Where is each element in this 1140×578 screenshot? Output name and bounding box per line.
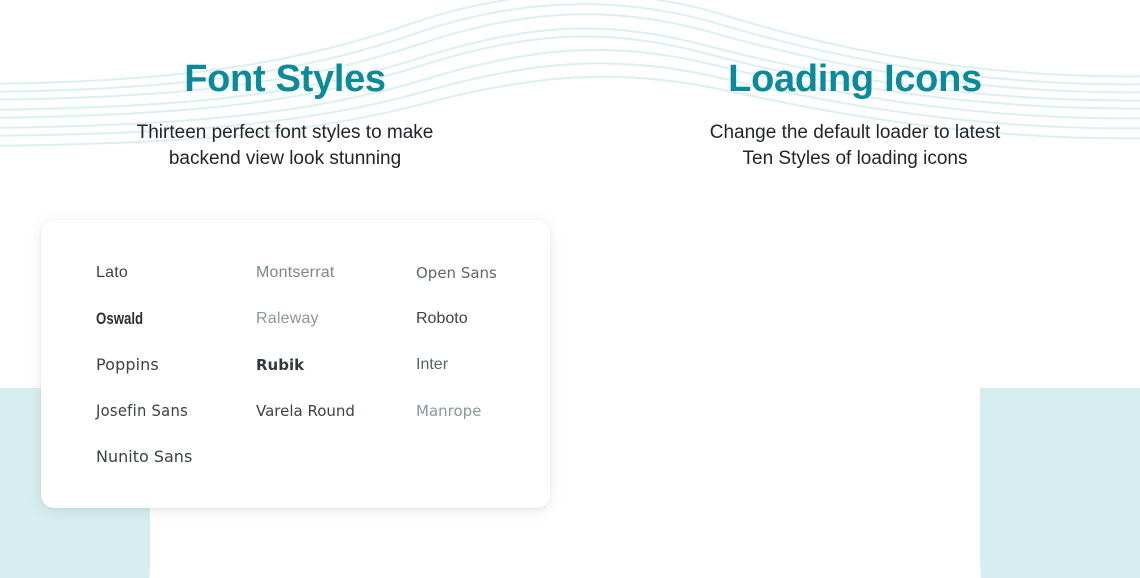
font-item-roboto[interactable]: Roboto	[416, 308, 516, 330]
font-item-lato[interactable]: Lato	[96, 262, 256, 284]
panel-loading-icons: Loading Icons Change the default loader …	[570, 0, 1140, 578]
subtitle-line-2: backend view look stunning	[169, 148, 401, 169]
font-styles-card: Lato Montserrat Open Sans Oswald Raleway…	[41, 220, 550, 508]
font-item-nunito-sans[interactable]: Nunito Sans	[96, 446, 256, 468]
subtitle-line-1: Thirteen perfect font styles to make	[137, 122, 434, 143]
page-title-font-styles: Font Styles	[0, 58, 570, 102]
panel-font-styles: Font Styles Thirteen perfect font styles…	[0, 0, 570, 578]
font-item-raleway[interactable]: Raleway	[256, 308, 416, 330]
page-title-loading-icons: Loading Icons	[570, 58, 1140, 102]
font-item-montserrat[interactable]: Montserrat	[256, 262, 416, 284]
font-item-josefin-sans[interactable]: Josefin Sans	[96, 400, 243, 422]
font-list: Lato Montserrat Open Sans Oswald Raleway…	[96, 262, 516, 468]
font-item-oswald[interactable]: Oswald	[96, 308, 221, 330]
subtitle-font-styles: Thirteen perfect font styles to make bac…	[0, 120, 570, 172]
subtitle-line-2: Ten Styles of loading icons	[743, 148, 968, 169]
font-item-poppins[interactable]: Poppins	[96, 354, 256, 376]
font-item-varela-round[interactable]: Varela Round	[256, 400, 416, 422]
subtitle-loading-icons: Change the default loader to latest Ten …	[570, 120, 1140, 172]
font-item-inter[interactable]: Inter	[416, 354, 516, 376]
page-root: Font Styles Thirteen perfect font styles…	[0, 0, 1140, 578]
font-item-rubik[interactable]: Rubik	[256, 354, 416, 376]
subtitle-line-1: Change the default loader to latest	[710, 122, 1000, 143]
font-item-open-sans[interactable]: Open Sans	[416, 262, 516, 284]
font-item-manrope[interactable]: Manrope	[416, 400, 516, 422]
